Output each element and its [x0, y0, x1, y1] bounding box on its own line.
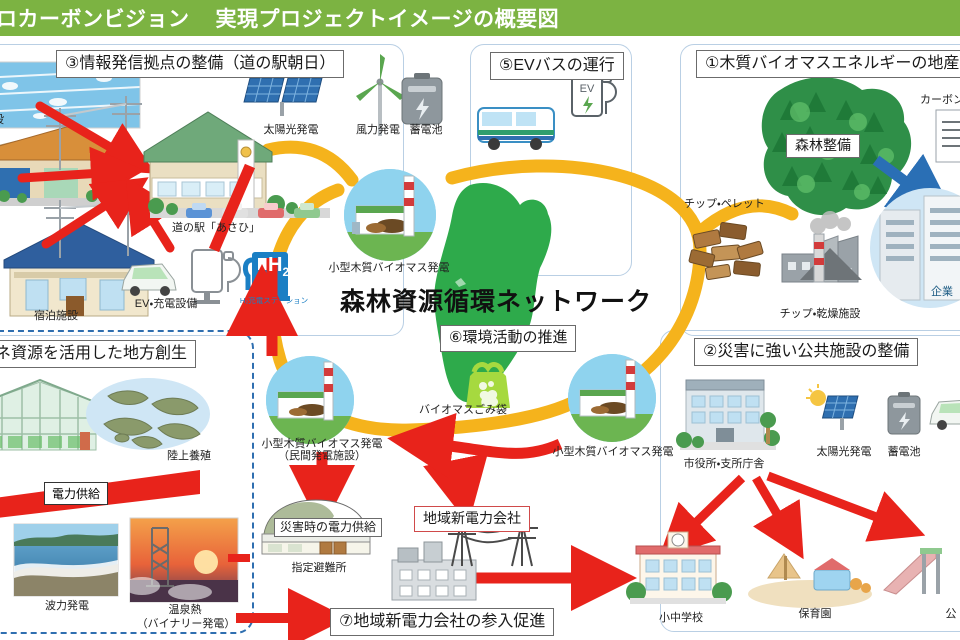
label-ev-charge: EV・充電設備 [124, 298, 208, 312]
section-header-7: ⑦地域新電力会社の参入促進 [330, 608, 554, 636]
label-battery2: 蓄電池 [876, 446, 932, 460]
section-header-5: ⑤EVバスの運行 [490, 52, 624, 80]
label-carbon: カーボン [914, 94, 960, 108]
label-disaster-power-supply: 災害時の電力供給 [274, 518, 382, 537]
page-title-bar: ロカーボンビジョン 実現プロジェクトイメージの概要図 [0, 0, 960, 36]
infographic-canvas: ロカーボンビジョン 実現プロジェクトイメージの概要図 [0, 0, 960, 640]
label-hotspring-line2: （バイナリー発電） [136, 618, 236, 632]
label-public-cut: 公 [938, 608, 960, 622]
h2-glyph: H2 [268, 254, 289, 279]
label-aquaculture: 陸上養殖 [158, 450, 220, 464]
panel-section-4 [0, 330, 254, 634]
section-header-1: ①木質バイオマスエネルギーの地産地消 [696, 50, 960, 78]
label-forest-maintenance: 森林整備 [786, 134, 860, 158]
label-roadstation: 道の駅「あさひ」 [166, 222, 266, 236]
section-header-4: ネ資源を活用した地方創生 [0, 340, 196, 368]
section-header-3: ③情報発信拠点の整備（道の駅朝日） [56, 50, 344, 78]
label-wave-power: 波力発電 [32, 600, 102, 614]
section-header-2: ②災害に強い公共施設の整備 [694, 338, 918, 366]
section-header-6: ⑥環境活動の推進 [440, 325, 576, 352]
label-solar: 太陽光発電 [258, 124, 324, 138]
label-facility-cut1: 施設 [0, 114, 26, 128]
label-cityhall: 市役所・支所庁舎 [674, 458, 774, 472]
page-title-part2: 実現プロジェクトイメージの概要図 [216, 3, 560, 33]
label-biomass-private-line2: （民間発電施設） [248, 450, 396, 464]
label-school: 小中学校 [648, 612, 714, 626]
label-chip-pellet: チップ・ペレット [684, 198, 760, 212]
label-biomass-small-right: 小型木質バイオマス発電 [548, 446, 678, 460]
label-facility-cut2: 設 [0, 240, 12, 254]
label-company: 企業 [922, 286, 960, 300]
label-hotspring-line1: 温泉熱 [148, 604, 222, 618]
page-title-part1: ロカーボンビジョン [0, 3, 190, 33]
label-chip-drying: チップ・乾燥施設 [774, 308, 866, 322]
label-biomass-bag: バイオマスごみ袋 [418, 404, 508, 418]
network-title: 森林資源循環ネットワーク [340, 282, 652, 318]
panel-section-1 [680, 44, 960, 336]
label-biomass-small-top: 小型木質バイオマス発電 [324, 262, 454, 276]
label-new-power-company: 地域新電力会社 [414, 506, 530, 532]
label-lodging: 宿泊施設 [18, 310, 94, 324]
label-shelter: 指定避難所 [274, 562, 364, 576]
label-h2-station: H₂充電ステーション [238, 296, 310, 305]
label-nursery: 保育園 [788, 608, 842, 622]
panel-section-2 [660, 330, 960, 632]
label-battery: 蓄電池 [398, 124, 454, 138]
label-solar2: 太陽光発電 [812, 446, 876, 460]
label-power-supply: 電力供給 [44, 482, 108, 505]
